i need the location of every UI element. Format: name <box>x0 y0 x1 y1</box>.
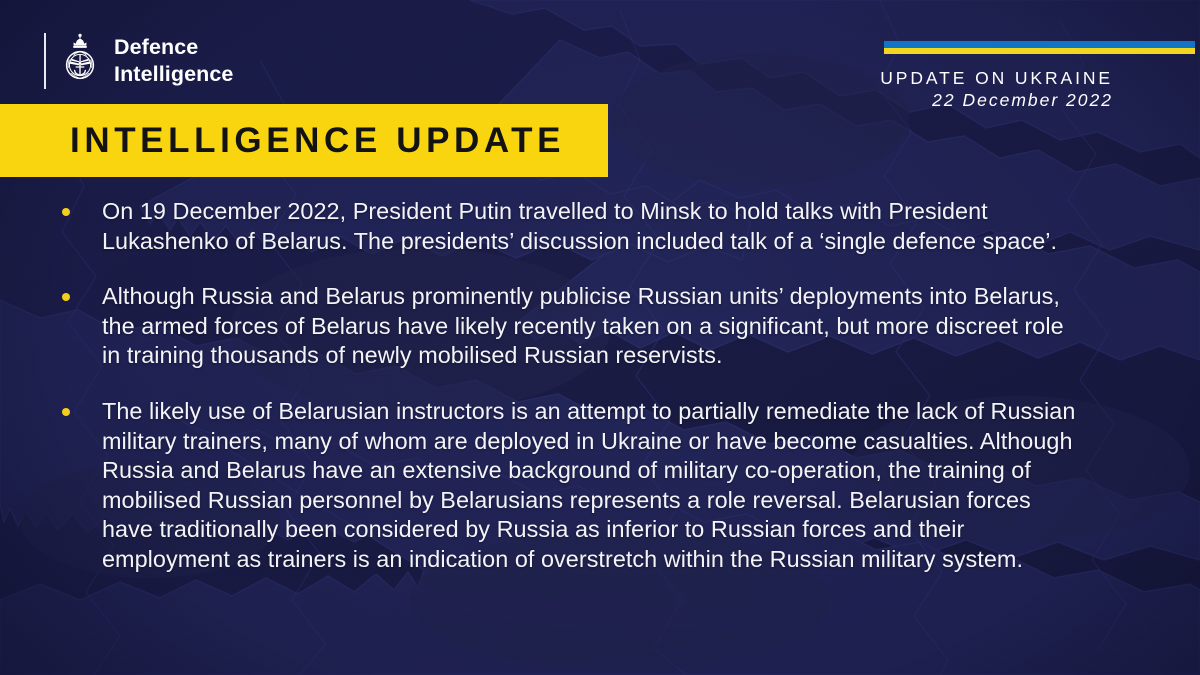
update-on-ukraine-block: UPDATE ON UKRAINE 22 December 2022 <box>880 68 1113 111</box>
bullet-list: On 19 December 2022, President Putin tra… <box>62 197 1087 575</box>
bullet-dot-icon <box>62 408 70 416</box>
list-item: Although Russia and Belarus prominently … <box>62 282 1087 371</box>
bullet-paragraph-1: On 19 December 2022, President Putin tra… <box>102 197 1087 256</box>
update-date: 22 December 2022 <box>880 90 1113 111</box>
logo-line-intelligence: Intelligence <box>114 61 233 88</box>
bullet-paragraph-2: Although Russia and Belarus prominently … <box>102 282 1087 371</box>
logo-divider-rule <box>44 33 46 89</box>
defence-intelligence-logo: Defence Intelligence <box>44 32 233 90</box>
ukraine-flag-bar-icon <box>884 41 1195 54</box>
logo-wordmark: Defence Intelligence <box>114 34 233 89</box>
list-item: The likely use of Belarusian instructors… <box>62 397 1087 575</box>
flag-stripe-yellow <box>884 48 1195 55</box>
bullet-dot-icon <box>62 293 70 301</box>
defence-intelligence-crest-icon <box>60 33 100 89</box>
logo-line-defence: Defence <box>114 34 233 61</box>
bullet-dot-icon <box>62 208 70 216</box>
list-item: On 19 December 2022, President Putin tra… <box>62 197 1087 256</box>
update-title: UPDATE ON UKRAINE <box>880 68 1113 89</box>
intelligence-update-banner: INTELLIGENCE UPDATE <box>0 104 608 177</box>
bullet-paragraph-3: The likely use of Belarusian instructors… <box>102 397 1087 575</box>
banner-title: INTELLIGENCE UPDATE <box>0 121 565 161</box>
intelligence-update-slide: Defence Intelligence UPDATE ON UKRAINE 2… <box>0 0 1200 675</box>
